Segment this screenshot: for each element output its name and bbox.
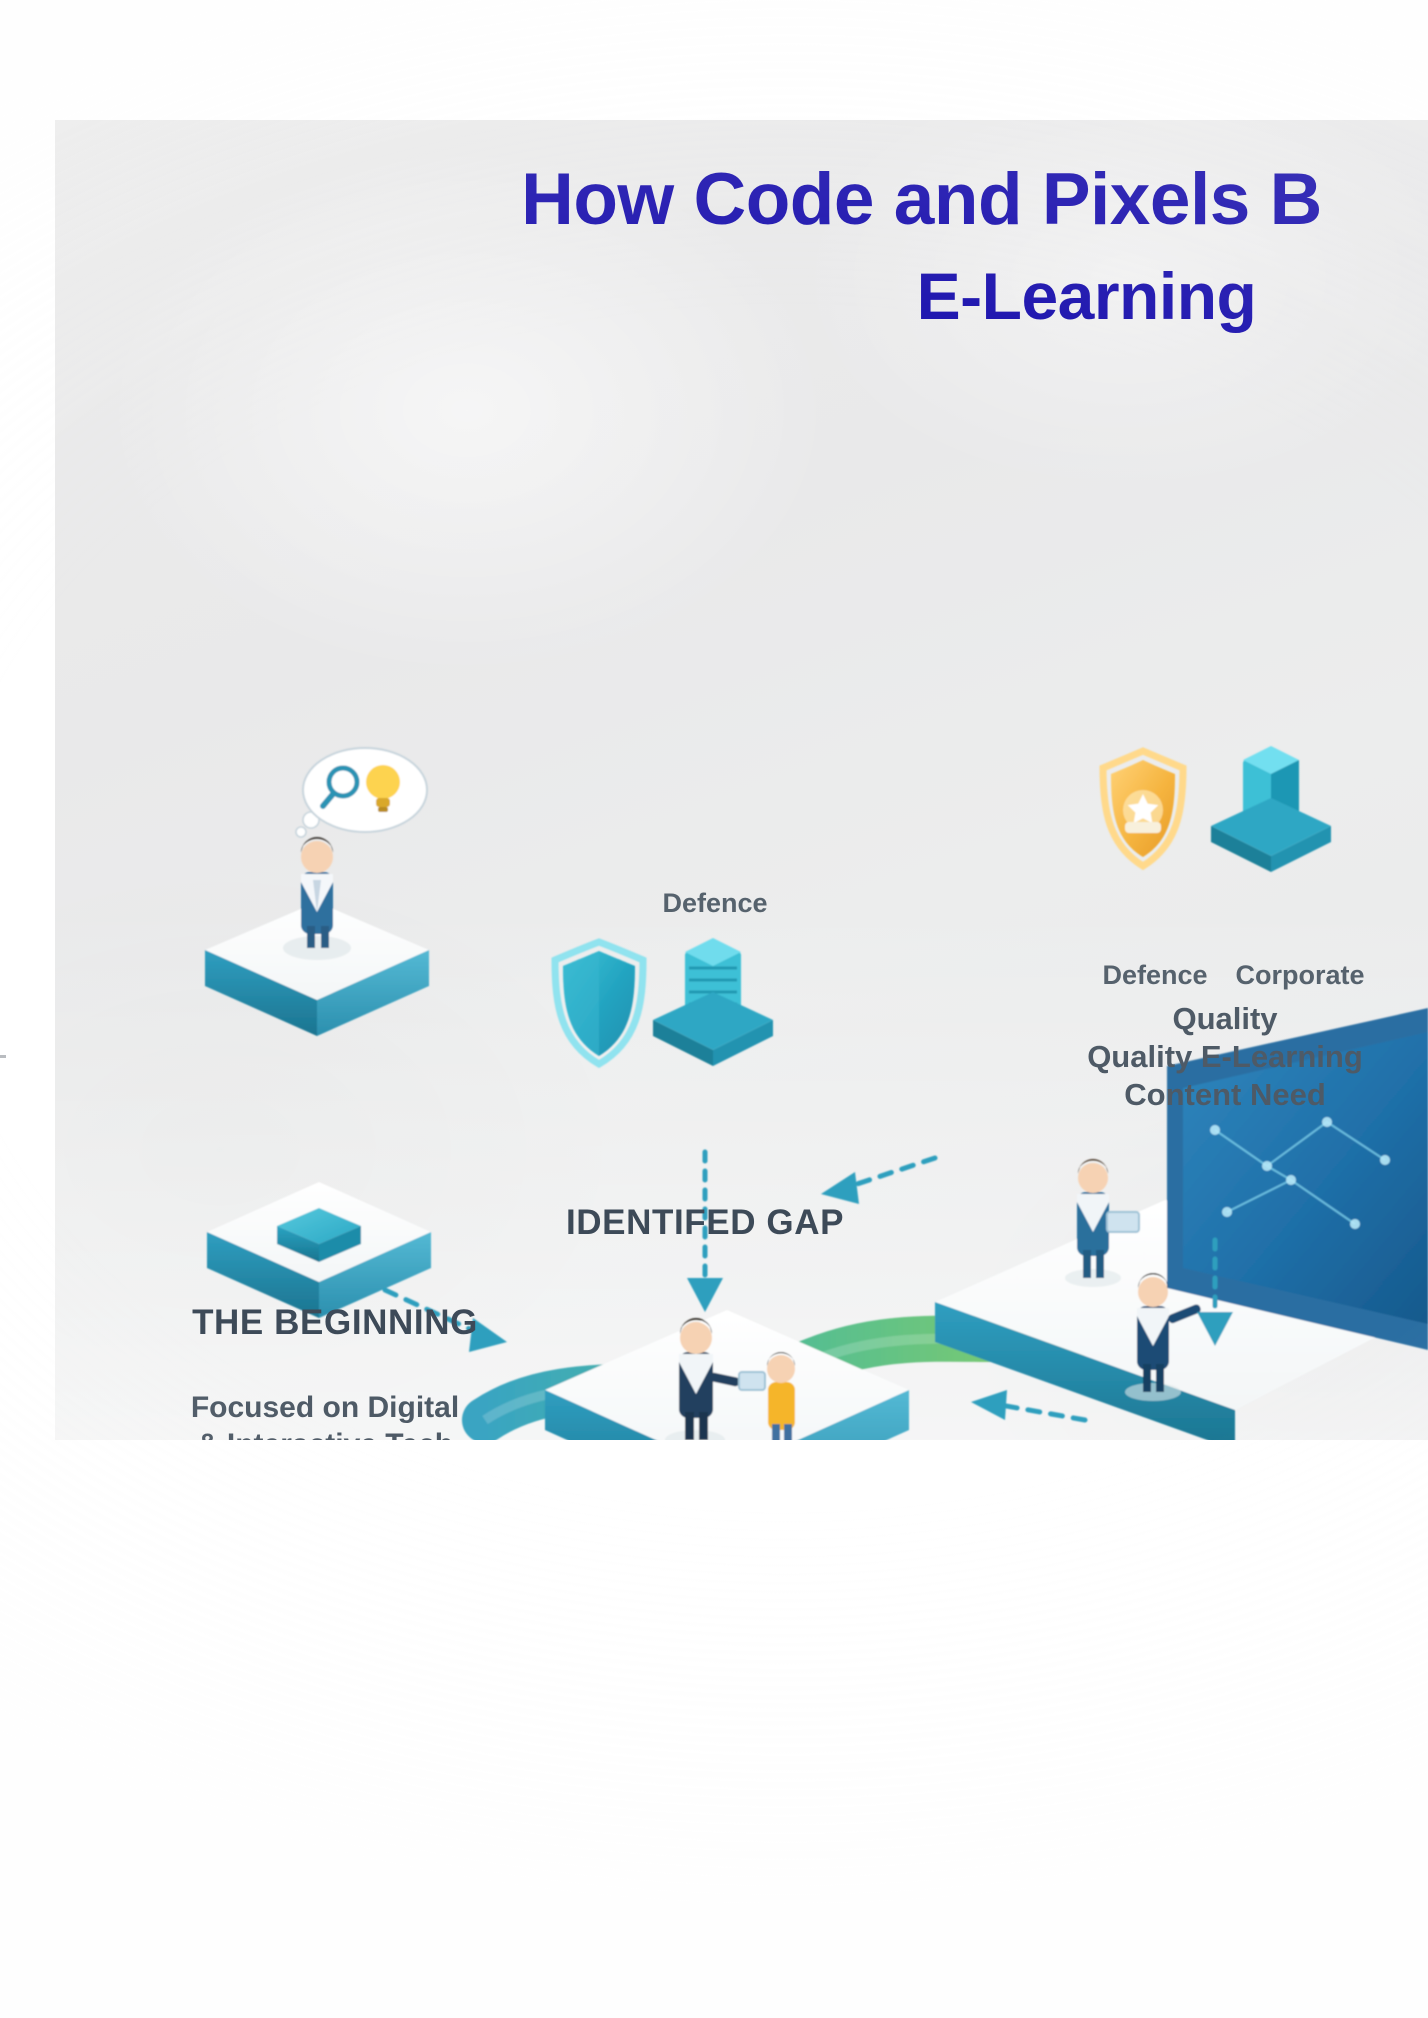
caption-corporate: Corporate	[1205, 960, 1395, 991]
shield-icon-large	[555, 942, 643, 1064]
slide-page: How Code and Pixels B E-Learning	[0, 0, 1428, 2018]
teal-building-icon-corporate	[1211, 746, 1331, 872]
platform-digital-tech	[207, 1182, 431, 1318]
idea-bubble-icon	[296, 748, 427, 837]
label-focused-digital: Focused on Digital & Interactive Tech	[115, 1390, 535, 1440]
left-edge-marker	[0, 1055, 6, 1058]
label-quality: Quality Quality E-Learning Content Need	[1035, 1000, 1415, 1113]
connector-bottom	[971, 1390, 1085, 1420]
label-quality-line-2: Quality E-Learning	[1035, 1038, 1415, 1076]
title-line-2: E-Learning	[745, 262, 1428, 331]
gold-shield-badge-icon	[1103, 751, 1183, 866]
slide-title: How Code and Pixels B E-Learning	[55, 162, 1428, 331]
label-quality-line-1: Quality	[1035, 1000, 1415, 1038]
label-the-beginning: THE BEGINNING	[125, 1302, 545, 1345]
figure-businessman-idea	[283, 837, 351, 960]
caption-defence-gap: Defence	[600, 888, 830, 919]
label-focused-line-2: & Interactive Tech	[115, 1427, 535, 1440]
label-identifed-gap: IDENTIFED GAP	[495, 1202, 915, 1245]
title-line-1: How Code and Pixels B	[415, 162, 1428, 238]
infographic-panel: How Code and Pixels B E-Learning	[55, 120, 1428, 1440]
label-quality-line-3: Content Need	[1035, 1076, 1415, 1114]
label-focused-line-1: Focused on Digital	[115, 1390, 535, 1427]
corporate-building-icon-gap	[653, 938, 773, 1066]
connector-center-right	[821, 1158, 935, 1204]
